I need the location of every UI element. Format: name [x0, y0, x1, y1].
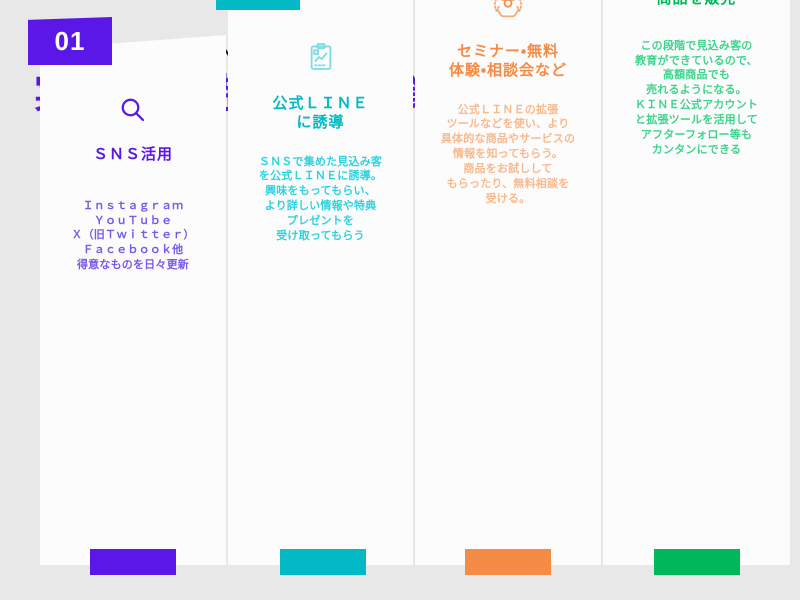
step-footer-bar-04 [654, 549, 740, 575]
card-title: セミナー・無料 体験・相談会など [449, 43, 567, 81]
card-content: セミナー・無料 体験・相談会など 公式ＬＩＮＥの拡張 ツールなどを使い、より 具… [415, 0, 601, 565]
step-card-04: 商品を販売 この段階で見込み客の 教育ができているので、 高額商品でも 売れるよ… [603, 0, 790, 565]
card-content: 公式ＬＩＮＥ に誘導 ＳＮＳで集めた見込み客 を公式ＬＩＮＥに誘導。 興味をもっ… [228, 0, 413, 565]
card-body: ＳＮＳで集めた見込み客 を公式ＬＩＮＥに誘導。 興味をもってもらい、 より詳しい… [259, 155, 382, 244]
card-body: この段階で見込み客の 教育ができているので、 高額商品でも 売れるようになる。 … [635, 39, 758, 158]
magnifier-icon [118, 95, 148, 130]
step-number-badge-01: 01 [28, 17, 112, 65]
card-title: ＳＮＳ活用 [93, 146, 173, 165]
clipboard-chart-icon [306, 42, 336, 77]
step-footer-bar-02 [280, 549, 366, 575]
card-title: 商品を販売 [656, 0, 736, 9]
card-body: 公式ＬＩＮＥの拡張 ツールなどを使い、より 具体的な商品やサービスの 情報を知っ… [441, 103, 575, 207]
slide-canvas: レパロひとりビジネスサポート ほぼ無料で使えるＳＮＳ集客 実店舗を持たない事業の… [0, 0, 800, 600]
hands-holding-coins-icon [492, 0, 524, 26]
step-card-02: 公式ＬＩＮＥ に誘導 ＳＮＳで集めた見込み客 を公式ＬＩＮＥに誘導。 興味をもっ… [228, 0, 413, 565]
step-number-badge-02: 02 [216, 0, 300, 10]
card-body: Ｉｎｓｔａｇｒａｍ ＹｏｕＴｕｂｅ Ｘ（旧Ｔｗｉｔｔｅｒ） Ｆａｃｅｂｏｏｋ他 … [71, 199, 194, 273]
card-content: ＳＮＳ活用 Ｉｎｓｔａｇｒａｍ ＹｏｕＴｕｂｅ Ｘ（旧Ｔｗｉｔｔｅｒ） Ｆａｃｅ… [40, 35, 226, 565]
card-title: 公式ＬＩＮＥ に誘導 [272, 95, 368, 133]
step-card-01: ＳＮＳ活用 Ｉｎｓｔａｇｒａｍ ＹｏｕＴｕｂｅ Ｘ（旧Ｔｗｉｔｔｅｒ） Ｆａｃｅ… [40, 35, 226, 565]
card-content: 商品を販売 この段階で見込み客の 教育ができているので、 高額商品でも 売れるよ… [603, 0, 790, 565]
step-footer-bar-01 [90, 549, 176, 575]
step-card-03: セミナー・無料 体験・相談会など 公式ＬＩＮＥの拡張 ツールなどを使い、より 具… [415, 0, 601, 565]
step-footer-bar-03 [465, 549, 551, 575]
